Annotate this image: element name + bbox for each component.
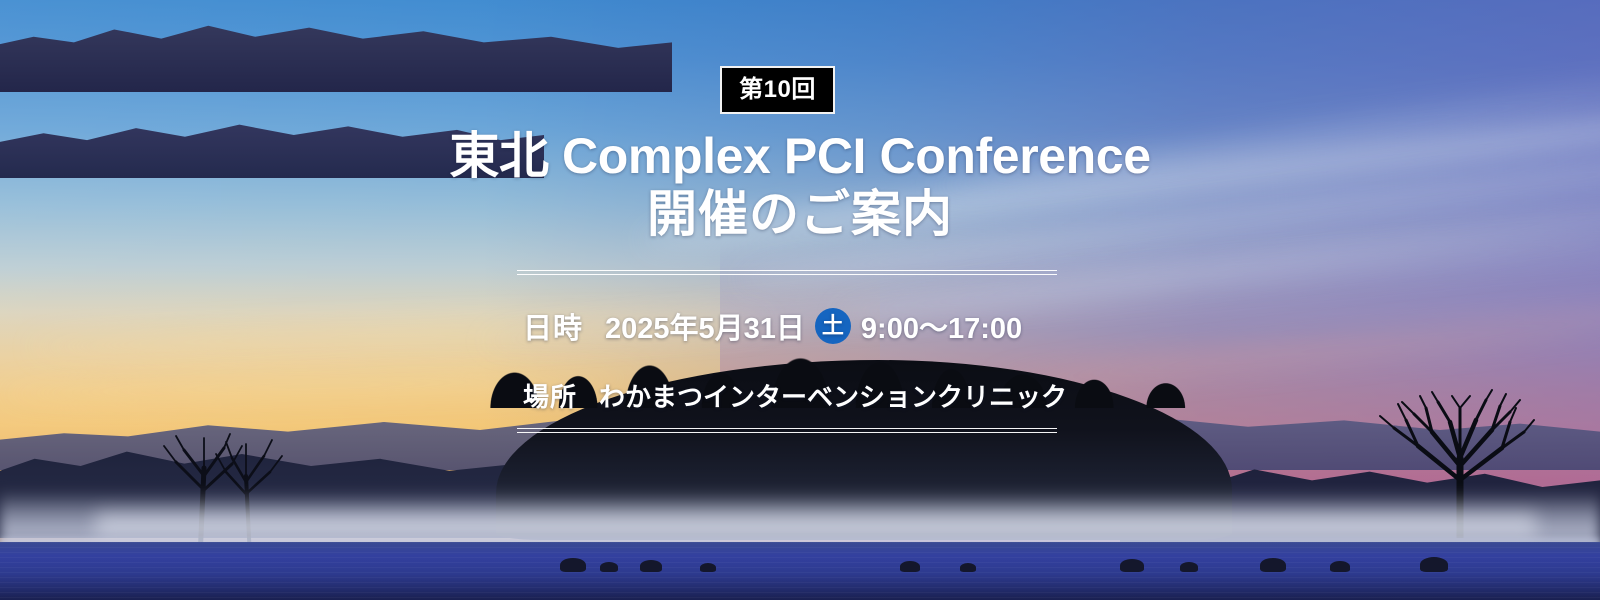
edition-badge-label: 第10回 (739, 78, 816, 102)
divider-bottom (517, 428, 1057, 433)
event-date-row: 日時 2025年5月31日 土 9:00〜17:00 (523, 305, 1022, 347)
page-title: 東北 Complex PCI Conference 開催のご案内 (0, 131, 1600, 239)
event-venue-row: 場所 わかまつインターベンションクリニック (523, 377, 1067, 414)
page-title-line1: 東北 Complex PCI Conference (449, 128, 1150, 184)
banner-text-overlay: 第10回 東北 Complex PCI Conference 開催のご案内 日時… (0, 0, 1600, 600)
divider-top (517, 270, 1057, 275)
hero-banner: 第10回 東北 Complex PCI Conference 開催のご案内 日時… (0, 0, 1600, 600)
venue-label: 場所 (523, 377, 577, 414)
date-label: 日時 (523, 305, 583, 347)
date-value: 2025年5月31日 (605, 305, 805, 347)
date-time-range: 9:00〜17:00 (861, 305, 1022, 347)
venue-value: わかまつインターベンションクリニック (599, 377, 1067, 414)
day-of-week-badge: 土 (815, 308, 851, 344)
edition-badge: 第10回 (720, 66, 835, 114)
page-title-line2: 開催のご案内 (0, 189, 1600, 239)
